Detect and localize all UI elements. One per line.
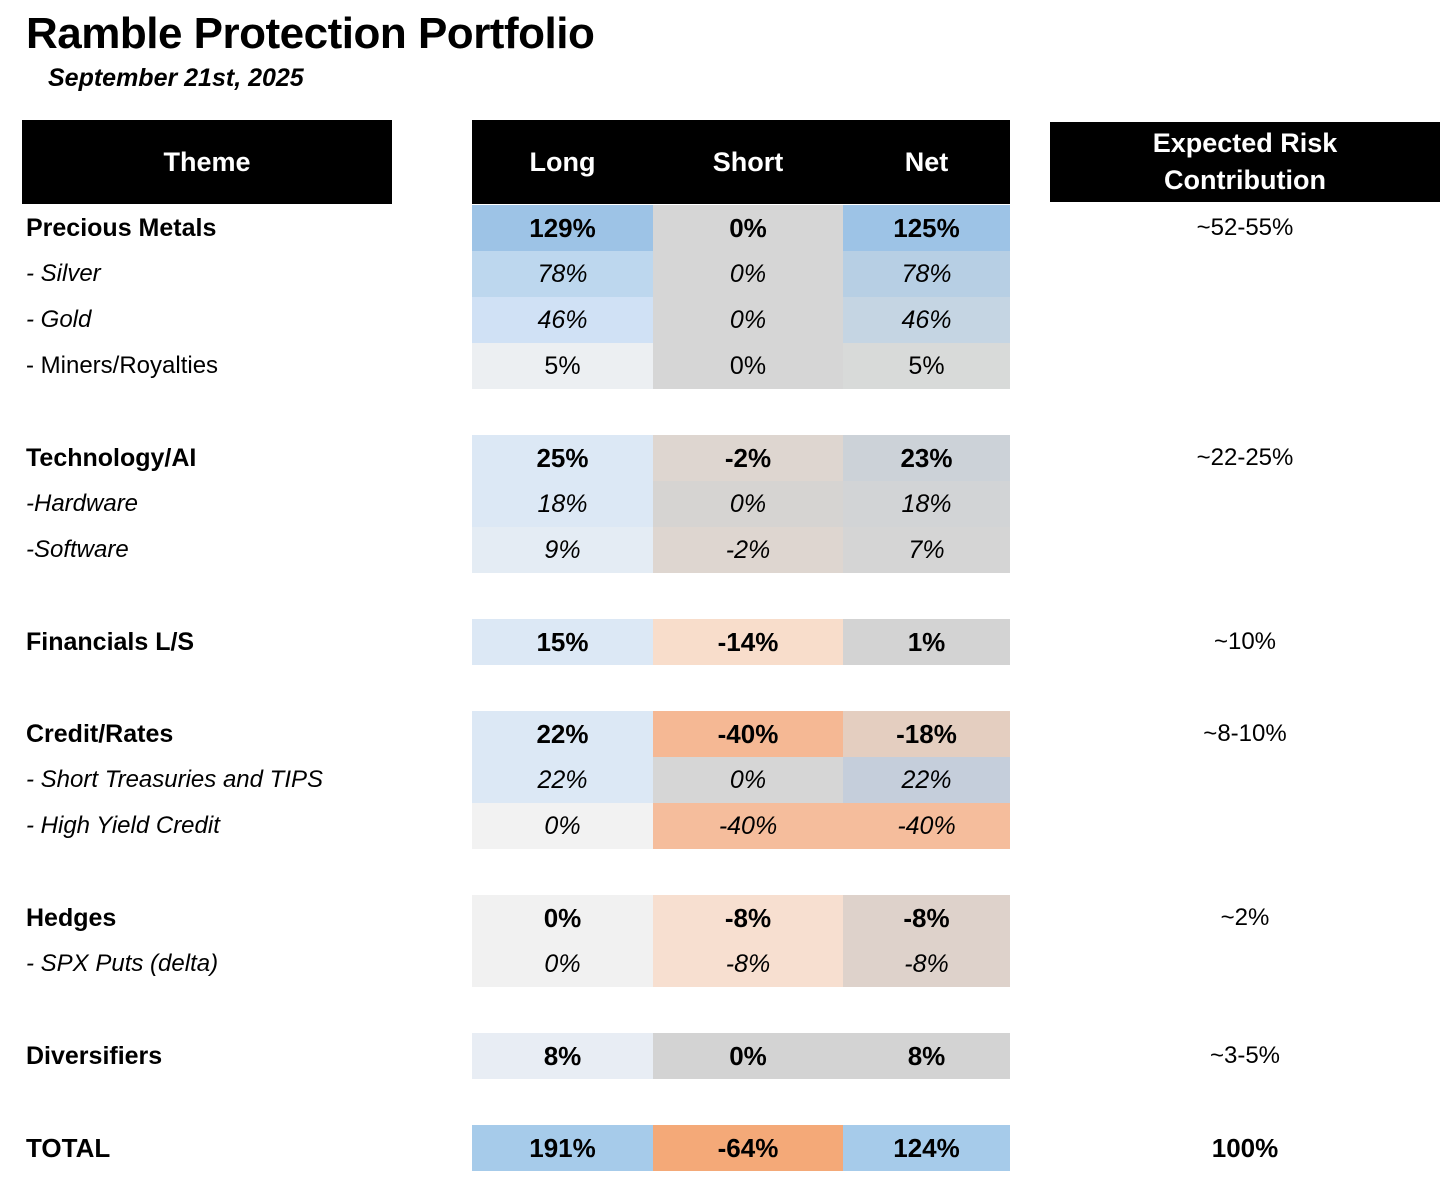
theme-label: - Miners/Royalties xyxy=(26,343,218,389)
table-row: - Gold46%0%46% xyxy=(0,297,1456,343)
cell-net: 8% xyxy=(843,1033,1010,1079)
table-row: Credit/Rates22%-40%-18%~8-10% xyxy=(0,711,1456,757)
table-row: Precious Metals129%0%125%~52-55% xyxy=(0,205,1456,251)
cell-short: -8% xyxy=(653,941,843,987)
table-row: Hedges0%-8%-8%~2% xyxy=(0,895,1456,941)
theme-label: - SPX Puts (delta) xyxy=(26,941,218,987)
theme-label: - High Yield Credit xyxy=(26,803,220,849)
column-header-metrics: Long Short Net xyxy=(472,120,1010,204)
cell-short: -14% xyxy=(653,619,843,665)
cell-risk-contribution: ~10% xyxy=(1050,619,1440,665)
cell-long: 78% xyxy=(472,251,653,297)
column-header-risk-line2: Contribution xyxy=(1164,162,1326,199)
cell-risk-contribution xyxy=(1050,251,1440,297)
cell-net: 7% xyxy=(843,527,1010,573)
cell-short: -2% xyxy=(653,435,843,481)
table-row: - Miners/Royalties5%0%5% xyxy=(0,343,1456,389)
cell-risk-contribution: ~22-25% xyxy=(1050,435,1440,481)
table-row-spacer xyxy=(0,987,1456,1033)
theme-label: Credit/Rates xyxy=(26,711,173,757)
cell-risk-contribution: ~2% xyxy=(1050,895,1440,941)
cell-long: 0% xyxy=(472,941,653,987)
cell-net: 124% xyxy=(843,1125,1010,1171)
cell-short: 0% xyxy=(653,757,843,803)
column-header-theme-label: Theme xyxy=(163,147,250,178)
cell-net: 78% xyxy=(843,251,1010,297)
theme-label: Technology/AI xyxy=(26,435,196,481)
cell-long: 8% xyxy=(472,1033,653,1079)
cell-risk-contribution xyxy=(1050,343,1440,389)
theme-label: -Hardware xyxy=(26,481,138,527)
cell-net: 125% xyxy=(843,205,1010,251)
column-header-long: Long xyxy=(472,120,653,204)
table-row: - Short Treasuries and TIPS22%0%22% xyxy=(0,757,1456,803)
table-row-spacer xyxy=(0,665,1456,711)
cell-short: -2% xyxy=(653,527,843,573)
table-row-spacer xyxy=(0,849,1456,895)
table-row-spacer xyxy=(0,573,1456,619)
column-header-theme: Theme xyxy=(22,120,392,204)
theme-label: TOTAL xyxy=(26,1125,110,1171)
table-row: - High Yield Credit0%-40%-40% xyxy=(0,803,1456,849)
table-row: Diversifiers8%0%8%~3-5% xyxy=(0,1033,1456,1079)
table-row: - SPX Puts (delta)0%-8%-8% xyxy=(0,941,1456,987)
table-row-spacer xyxy=(0,1079,1456,1125)
theme-label: - Gold xyxy=(26,297,91,343)
cell-risk-contribution xyxy=(1050,941,1440,987)
portfolio-table: Precious Metals129%0%125%~52-55%- Silver… xyxy=(0,205,1456,1171)
theme-label: Diversifiers xyxy=(26,1033,162,1079)
page-subtitle: September 21st, 2025 xyxy=(48,62,304,94)
cell-long: 191% xyxy=(472,1125,653,1171)
cell-net: 46% xyxy=(843,297,1010,343)
theme-label: - Short Treasuries and TIPS xyxy=(26,757,323,803)
table-row: Financials L/S15%-14%1%~10% xyxy=(0,619,1456,665)
cell-risk-contribution xyxy=(1050,803,1440,849)
cell-long: 5% xyxy=(472,343,653,389)
cell-net: 18% xyxy=(843,481,1010,527)
cell-short: 0% xyxy=(653,251,843,297)
cell-risk-contribution xyxy=(1050,297,1440,343)
theme-label: Financials L/S xyxy=(26,619,194,665)
cell-risk-contribution: 100% xyxy=(1050,1125,1440,1171)
cell-short: 0% xyxy=(653,205,843,251)
cell-long: 0% xyxy=(472,803,653,849)
cell-net: 23% xyxy=(843,435,1010,481)
cell-risk-contribution xyxy=(1050,757,1440,803)
cell-short: -8% xyxy=(653,895,843,941)
theme-label: Hedges xyxy=(26,895,116,941)
cell-short: -40% xyxy=(653,803,843,849)
table-row-spacer xyxy=(0,389,1456,435)
table-row: -Software9%-2%7% xyxy=(0,527,1456,573)
cell-net: 1% xyxy=(843,619,1010,665)
theme-label: -Software xyxy=(26,527,129,573)
cell-net: -8% xyxy=(843,941,1010,987)
cell-risk-contribution: ~3-5% xyxy=(1050,1033,1440,1079)
cell-short: 0% xyxy=(653,1033,843,1079)
cell-risk-contribution: ~8-10% xyxy=(1050,711,1440,757)
cell-long: 15% xyxy=(472,619,653,665)
cell-net: 22% xyxy=(843,757,1010,803)
cell-net: -18% xyxy=(843,711,1010,757)
cell-net: -40% xyxy=(843,803,1010,849)
cell-long: 22% xyxy=(472,711,653,757)
cell-risk-contribution: ~52-55% xyxy=(1050,205,1440,251)
cell-long: 22% xyxy=(472,757,653,803)
table-row: -Hardware18%0%18% xyxy=(0,481,1456,527)
cell-short: 0% xyxy=(653,481,843,527)
cell-net: 5% xyxy=(843,343,1010,389)
table-row: TOTAL191%-64%124%100% xyxy=(0,1125,1456,1171)
cell-long: 46% xyxy=(472,297,653,343)
cell-risk-contribution xyxy=(1050,481,1440,527)
column-header-net: Net xyxy=(843,120,1010,204)
table-row: - Silver78%0%78% xyxy=(0,251,1456,297)
cell-long: 0% xyxy=(472,895,653,941)
cell-net: -8% xyxy=(843,895,1010,941)
cell-long: 25% xyxy=(472,435,653,481)
column-header-risk-line1: Expected Risk xyxy=(1153,125,1338,162)
table-row: Technology/AI25%-2%23%~22-25% xyxy=(0,435,1456,481)
cell-long: 18% xyxy=(472,481,653,527)
cell-short: 0% xyxy=(653,297,843,343)
cell-short: -64% xyxy=(653,1125,843,1171)
cell-risk-contribution xyxy=(1050,527,1440,573)
theme-label: Precious Metals xyxy=(26,205,216,251)
cell-short: -40% xyxy=(653,711,843,757)
column-header-risk-contribution: Expected Risk Contribution xyxy=(1050,122,1440,202)
cell-short: 0% xyxy=(653,343,843,389)
page-title: Ramble Protection Portfolio xyxy=(26,8,594,60)
cell-long: 129% xyxy=(472,205,653,251)
theme-label: - Silver xyxy=(26,251,101,297)
column-header-short: Short xyxy=(653,120,843,204)
cell-long: 9% xyxy=(472,527,653,573)
